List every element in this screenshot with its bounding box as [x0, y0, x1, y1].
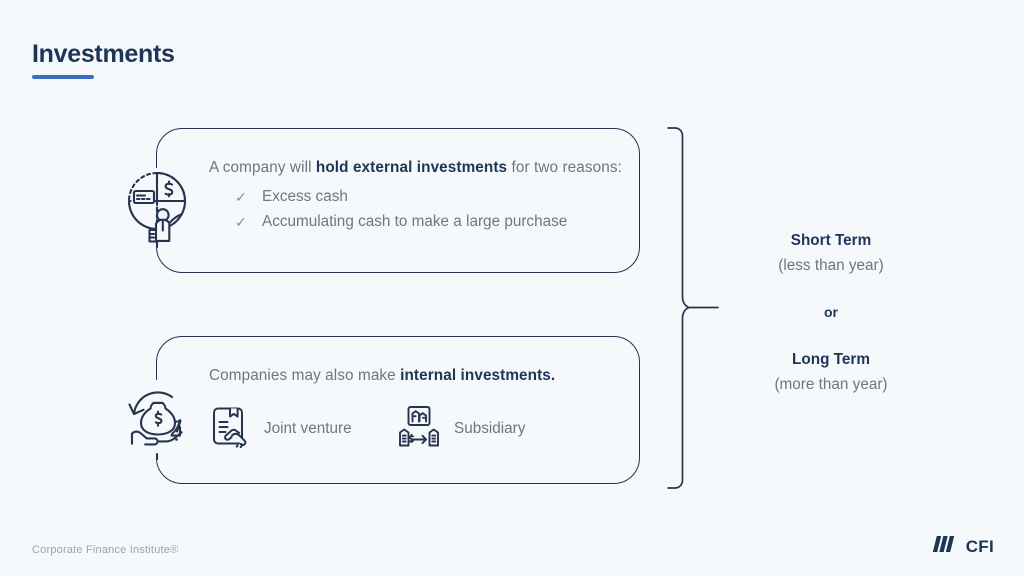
buildings-transfer-icon [396, 404, 442, 453]
hand-money-bag-recycle-icon [120, 380, 194, 460]
document-handshake-icon [208, 404, 252, 453]
internal-lead-bold: internal investments. [400, 367, 555, 384]
list-item-label: Excess cash [262, 184, 348, 209]
long-term-note: (more than year) [735, 372, 927, 397]
list-item-label: Accumulating cash to make a large purcha… [262, 209, 567, 234]
external-lead-after: for two reasons: [507, 159, 622, 176]
brand-name: CFI [966, 537, 994, 557]
list-item: ✓ Accumulating cash to make a large purc… [235, 209, 623, 234]
subsidiary-label: Subsidiary [454, 420, 525, 438]
short-term-note: (less than year) [735, 253, 927, 278]
page-title: Investments [32, 42, 175, 67]
internal-lead-before: Companies may also make [209, 367, 400, 384]
check-icon: ✓ [235, 215, 245, 229]
pie-chart-investor-icon [120, 168, 194, 248]
list-item: ✓ Excess cash [235, 184, 623, 209]
short-term-title: Short Term [735, 228, 927, 253]
joint-venture-option: Joint venture [208, 404, 352, 453]
internal-card-lead: Companies may also make internal investm… [209, 363, 623, 388]
external-investments-card: A company will hold external investments… [156, 128, 640, 273]
cfi-bars-icon [931, 535, 961, 558]
check-icon: ✓ [235, 190, 245, 204]
external-reasons-list: ✓ Excess cash ✓ Accumulating cash to mak… [209, 184, 623, 234]
page-title-group: Investments [32, 42, 175, 79]
title-underline-rule [32, 75, 94, 79]
external-card-body: A company will hold external investments… [209, 155, 623, 234]
external-lead-bold: hold external investments [316, 159, 507, 176]
internal-card-body: Companies may also make internal investm… [209, 363, 623, 388]
slide-canvas: Investments A company will hold external… [0, 0, 1024, 576]
external-card-lead: A company will hold external investments… [209, 155, 623, 180]
external-lead-before: A company will [209, 159, 316, 176]
term-conjunction: or [735, 300, 927, 325]
curly-brace-right-icon [666, 126, 726, 492]
subsidiary-option: Subsidiary [396, 404, 525, 453]
brand-logo: CFI [931, 535, 994, 558]
term-length-group: Short Term (less than year) or Long Term… [735, 228, 927, 397]
footer-organization: Corporate Finance Institute® [32, 544, 178, 556]
long-term-title: Long Term [735, 347, 927, 372]
joint-venture-label: Joint venture [264, 420, 352, 438]
